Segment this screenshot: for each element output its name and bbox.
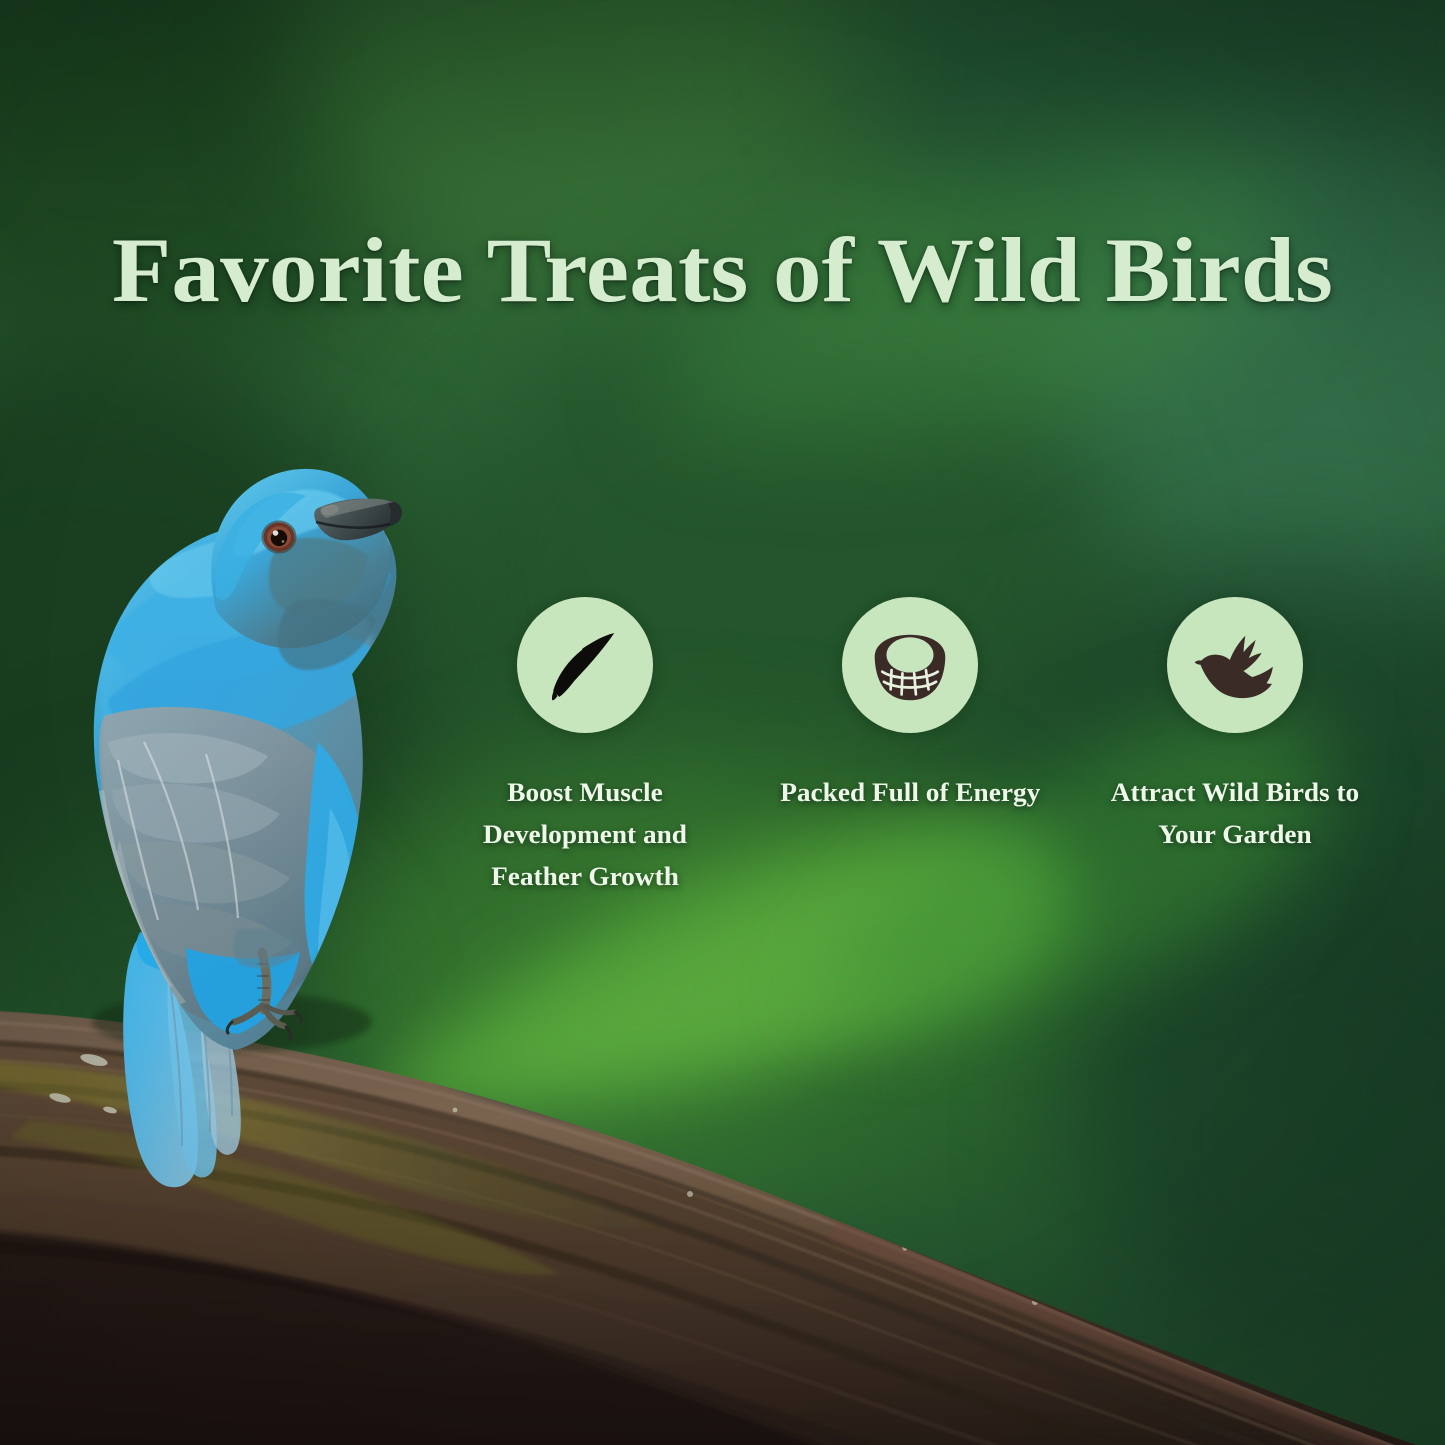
feature-badge bbox=[1167, 597, 1303, 733]
feature-caption: Packed Full of Energy bbox=[780, 771, 1040, 813]
page-title: Favorite Treats of Wild Birds bbox=[0, 224, 1445, 318]
nest-icon bbox=[868, 623, 952, 707]
feature-badge bbox=[517, 597, 653, 733]
flying-bird-icon bbox=[1192, 622, 1278, 708]
feature-item: Boost Muscle Development and Feather Gro… bbox=[430, 597, 740, 897]
feature-row: Boost Muscle Development and Feather Gro… bbox=[430, 597, 1390, 897]
feature-badge bbox=[842, 597, 978, 733]
feature-item: Packed Full of Energy bbox=[755, 597, 1065, 813]
feature-caption: Boost Muscle Development and Feather Gro… bbox=[441, 771, 729, 897]
product-hero-image: Favorite Treats of Wild Birds bbox=[0, 0, 1445, 1445]
feature-caption: Attract Wild Birds to Your Garden bbox=[1091, 771, 1379, 855]
feature-item: Attract Wild Birds to Your Garden bbox=[1080, 597, 1390, 855]
feather-icon bbox=[542, 622, 628, 708]
